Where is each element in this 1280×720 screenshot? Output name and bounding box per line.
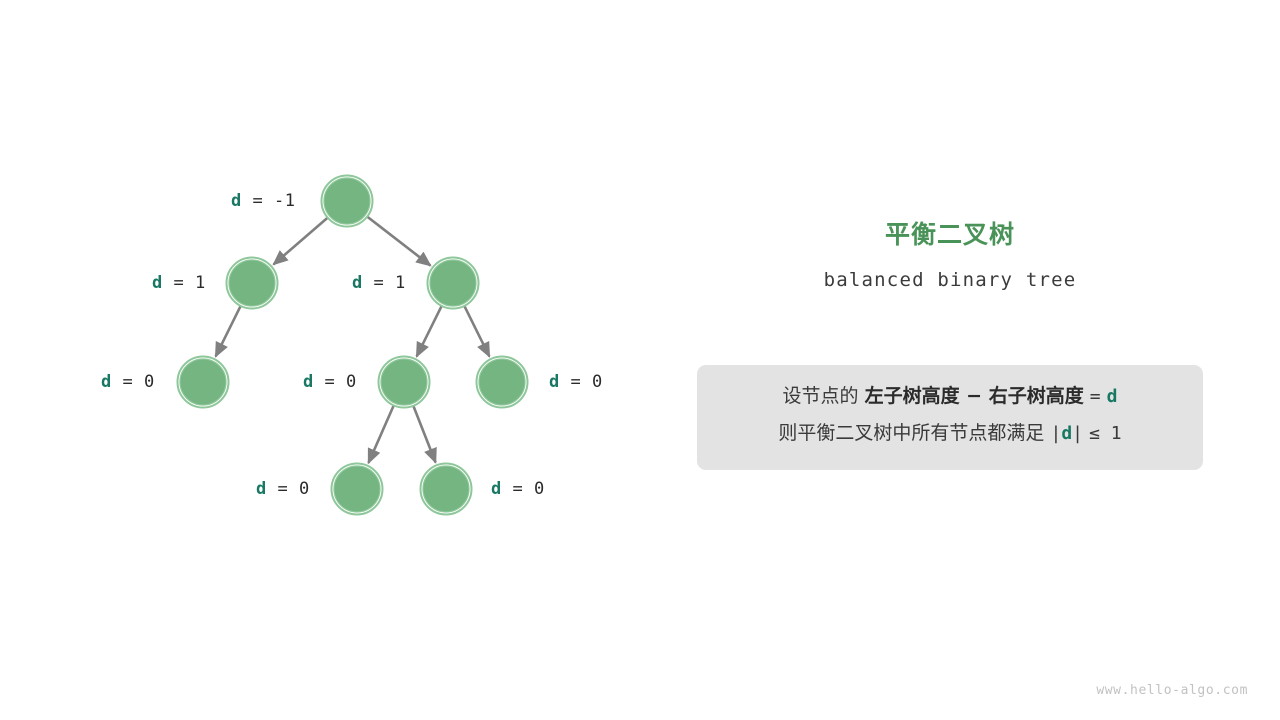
balance-factor-variable: d [256, 479, 267, 499]
watermark: www.hello-algo.com [1096, 683, 1248, 698]
balance-factor-value: = 0 [560, 372, 603, 392]
node-balance-factor-label: d = 1 [152, 275, 206, 292]
balance-factor-variable: d [491, 479, 502, 499]
balance-factor-variable: d [101, 372, 112, 392]
definition-prefix: 设节点的 [783, 385, 859, 407]
balance-factor-variable: d [231, 191, 242, 211]
definition-line-1: 设节点的 左子树高度 − 右子树高度 = d [697, 387, 1203, 406]
balance-factor-value: = 0 [314, 372, 357, 392]
tree-node-circle[interactable] [334, 466, 380, 512]
balance-factor-value: = 1 [163, 273, 206, 293]
tree-node-circle[interactable] [180, 359, 226, 405]
definition-equals: = [1090, 386, 1101, 407]
tree-node-circle[interactable] [423, 466, 469, 512]
panel-subtitle: balanced binary tree [697, 269, 1203, 291]
tree-nodes [178, 176, 528, 515]
balance-factor-value: = -1 [242, 191, 296, 211]
balance-factor-value: = 1 [363, 273, 406, 293]
definition-line-2: 则平衡二叉树中所有节点都满足 |d| ≤ 1 [697, 424, 1203, 443]
node-balance-factor-label: d = 0 [256, 481, 310, 498]
balance-factor-value: = 0 [502, 479, 545, 499]
node-balance-factor-label: d = 0 [101, 374, 155, 391]
node-balance-factor-label: d = -1 [231, 193, 295, 210]
balance-factor-variable: d [303, 372, 314, 392]
tree-edge [417, 306, 442, 357]
node-balance-factor-label: d = 0 [549, 374, 603, 391]
tree-edge [413, 406, 435, 463]
tree-node-circle[interactable] [479, 359, 525, 405]
definition-box: 设节点的 左子树高度 − 右子树高度 = d 则平衡二叉树中所有节点都满足 |d… [697, 365, 1203, 470]
tree-edge [464, 306, 489, 357]
concept-panel: 平衡二叉树 balanced binary tree [697, 220, 1203, 291]
tree-node-circle[interactable] [430, 260, 476, 306]
balance-factor-variable: d [152, 273, 163, 293]
page-title: 平衡二叉树 [697, 220, 1203, 250]
tree-edge [274, 218, 328, 265]
condition-relation: ≤ 1 [1089, 423, 1122, 444]
binary-tree-diagram [0, 0, 660, 600]
tree-node-circle[interactable] [381, 359, 427, 405]
balance-factor-value: = 0 [112, 372, 155, 392]
node-balance-factor-label: d = 1 [352, 275, 406, 292]
balance-factor-variable: d [352, 273, 363, 293]
tree-edge [367, 217, 430, 266]
definition-variable-d: d [1107, 386, 1118, 407]
node-balance-factor-label: d = 0 [491, 481, 545, 498]
abs-bar-close: | [1072, 423, 1083, 444]
diagram-canvas: d = -1d = 1d = 1d = 0d = 0d = 0d = 0d = … [0, 0, 1280, 720]
tree-node-circle[interactable] [229, 260, 275, 306]
definition-bold-term: 左子树高度 − 右子树高度 [865, 385, 1084, 407]
tree-node-circle[interactable] [324, 178, 370, 224]
balance-factor-value: = 0 [267, 479, 310, 499]
node-balance-factor-label: d = 0 [303, 374, 357, 391]
condition-prefix: 则平衡二叉树中所有节点都满足 [778, 422, 1044, 444]
tree-edge [216, 306, 241, 357]
tree-edges [216, 217, 490, 463]
tree-edge [368, 405, 393, 463]
condition-variable-d: d [1061, 423, 1072, 444]
balance-factor-variable: d [549, 372, 560, 392]
abs-bar-open: | [1050, 423, 1061, 444]
